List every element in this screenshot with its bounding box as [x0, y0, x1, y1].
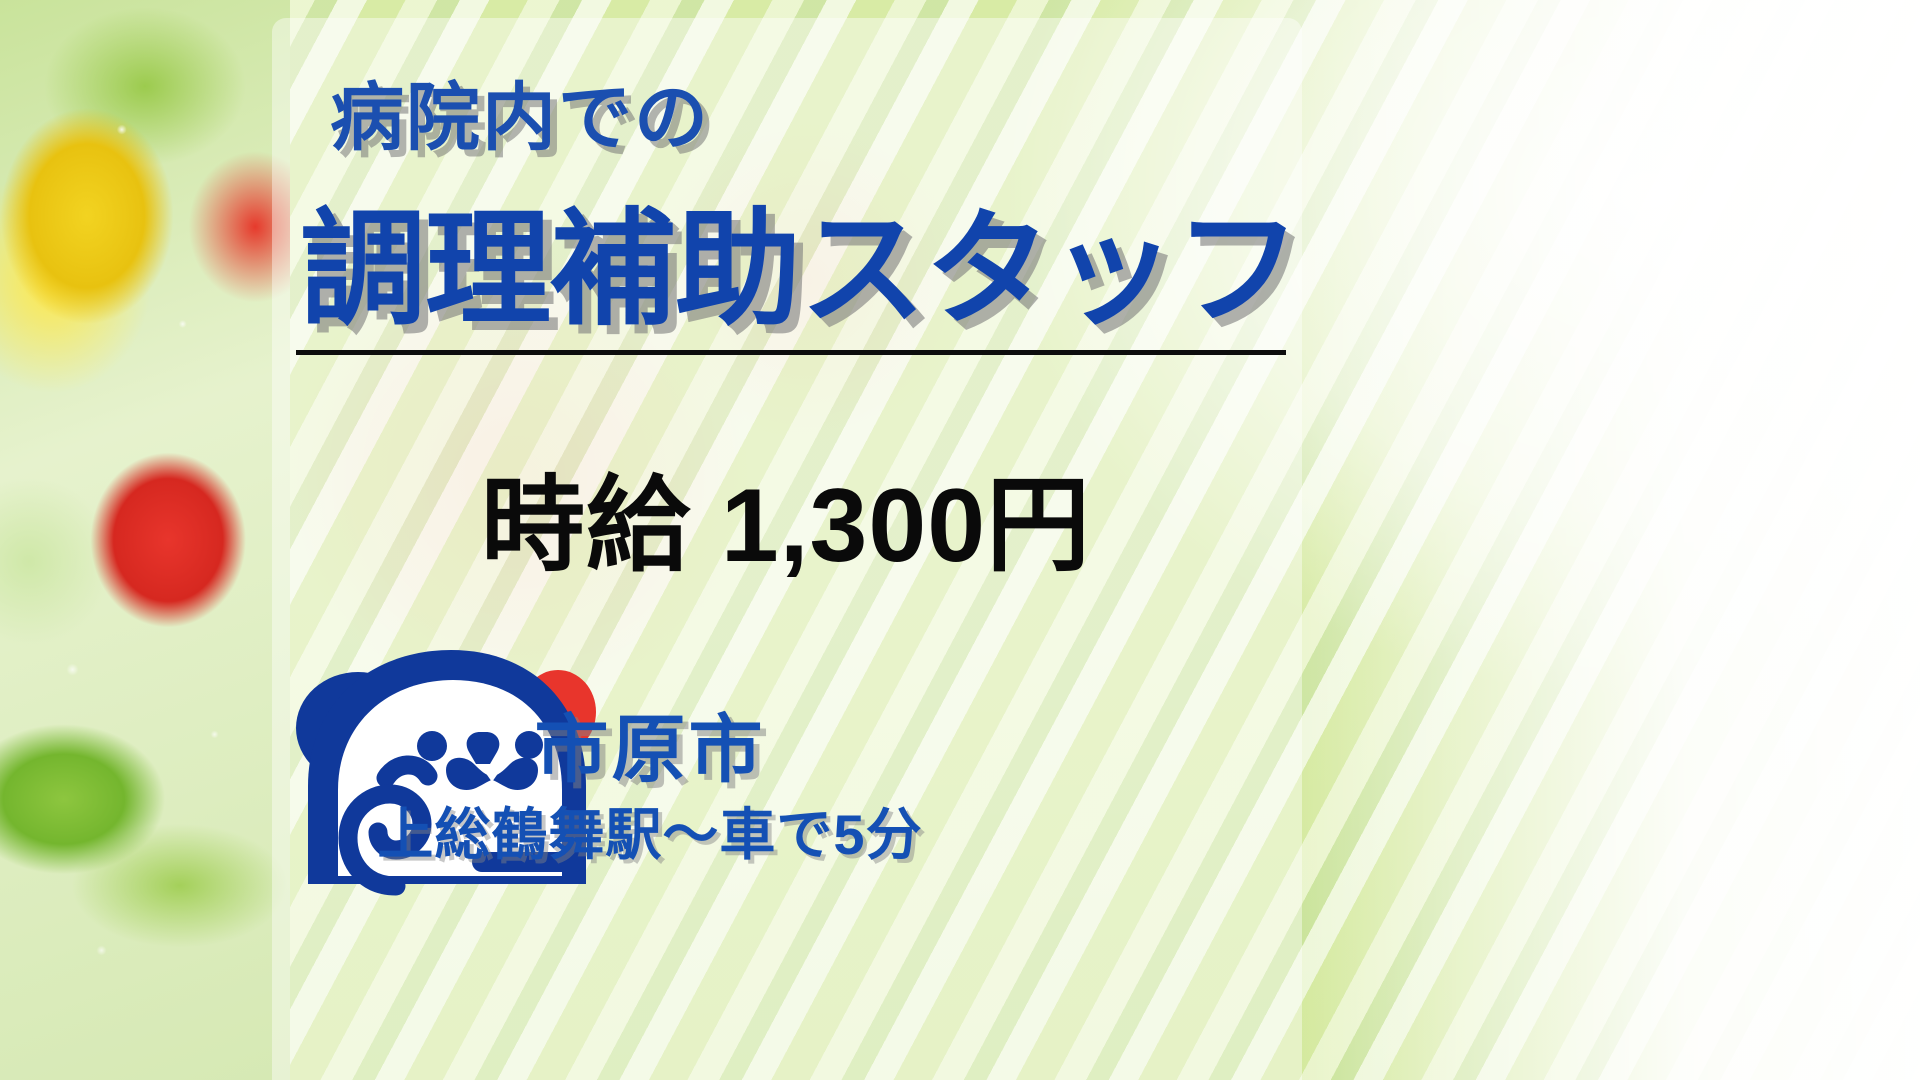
city-name: 市原市	[0, 690, 1300, 797]
advertisement-content: 病院内での 調理補助スタッフ 時給 1,300円	[0, 0, 1920, 1080]
station-access-text: 上総鶴舞駅〜車で5分	[0, 790, 1300, 871]
eyebrow-text: 病院内での	[330, 58, 710, 165]
page-title: 調理補助スタッフ	[300, 168, 1300, 350]
divider-line	[296, 350, 1286, 355]
wage-text: 時給 1,300円	[0, 440, 1572, 591]
